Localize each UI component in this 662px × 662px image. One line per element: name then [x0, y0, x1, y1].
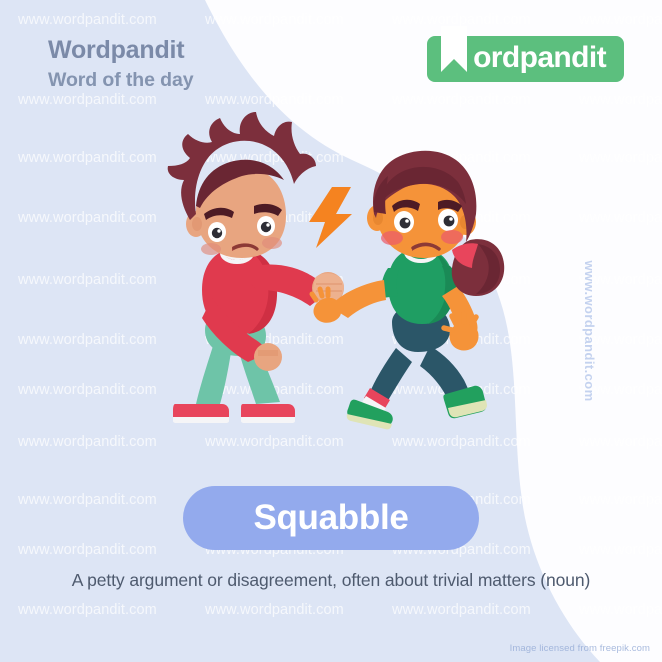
word-of-the-day-card: www.wordpandit.com www.wordpandit.com ww…	[0, 0, 662, 662]
lightning-bolt-icon	[309, 187, 352, 248]
wordpandit-logo[interactable]: ordpandit	[427, 36, 624, 82]
page-subtitle: Word of the day	[48, 69, 193, 92]
logo-text: ordpandit	[473, 43, 606, 73]
definition-text: A petty argument or disagreement, often …	[0, 570, 662, 591]
word-text: Squabble	[253, 500, 408, 535]
word-of-day-badge[interactable]: Squabble	[183, 486, 479, 550]
angry-boy-character	[168, 112, 344, 423]
bookmark-ribbon-icon	[441, 26, 467, 72]
page-title: Wordpandit	[48, 36, 193, 65]
argument-illustration	[0, 0, 662, 662]
header-block: Wordpandit Word of the day	[48, 36, 193, 92]
image-credit: Image licensed from freepik.com	[510, 643, 650, 654]
